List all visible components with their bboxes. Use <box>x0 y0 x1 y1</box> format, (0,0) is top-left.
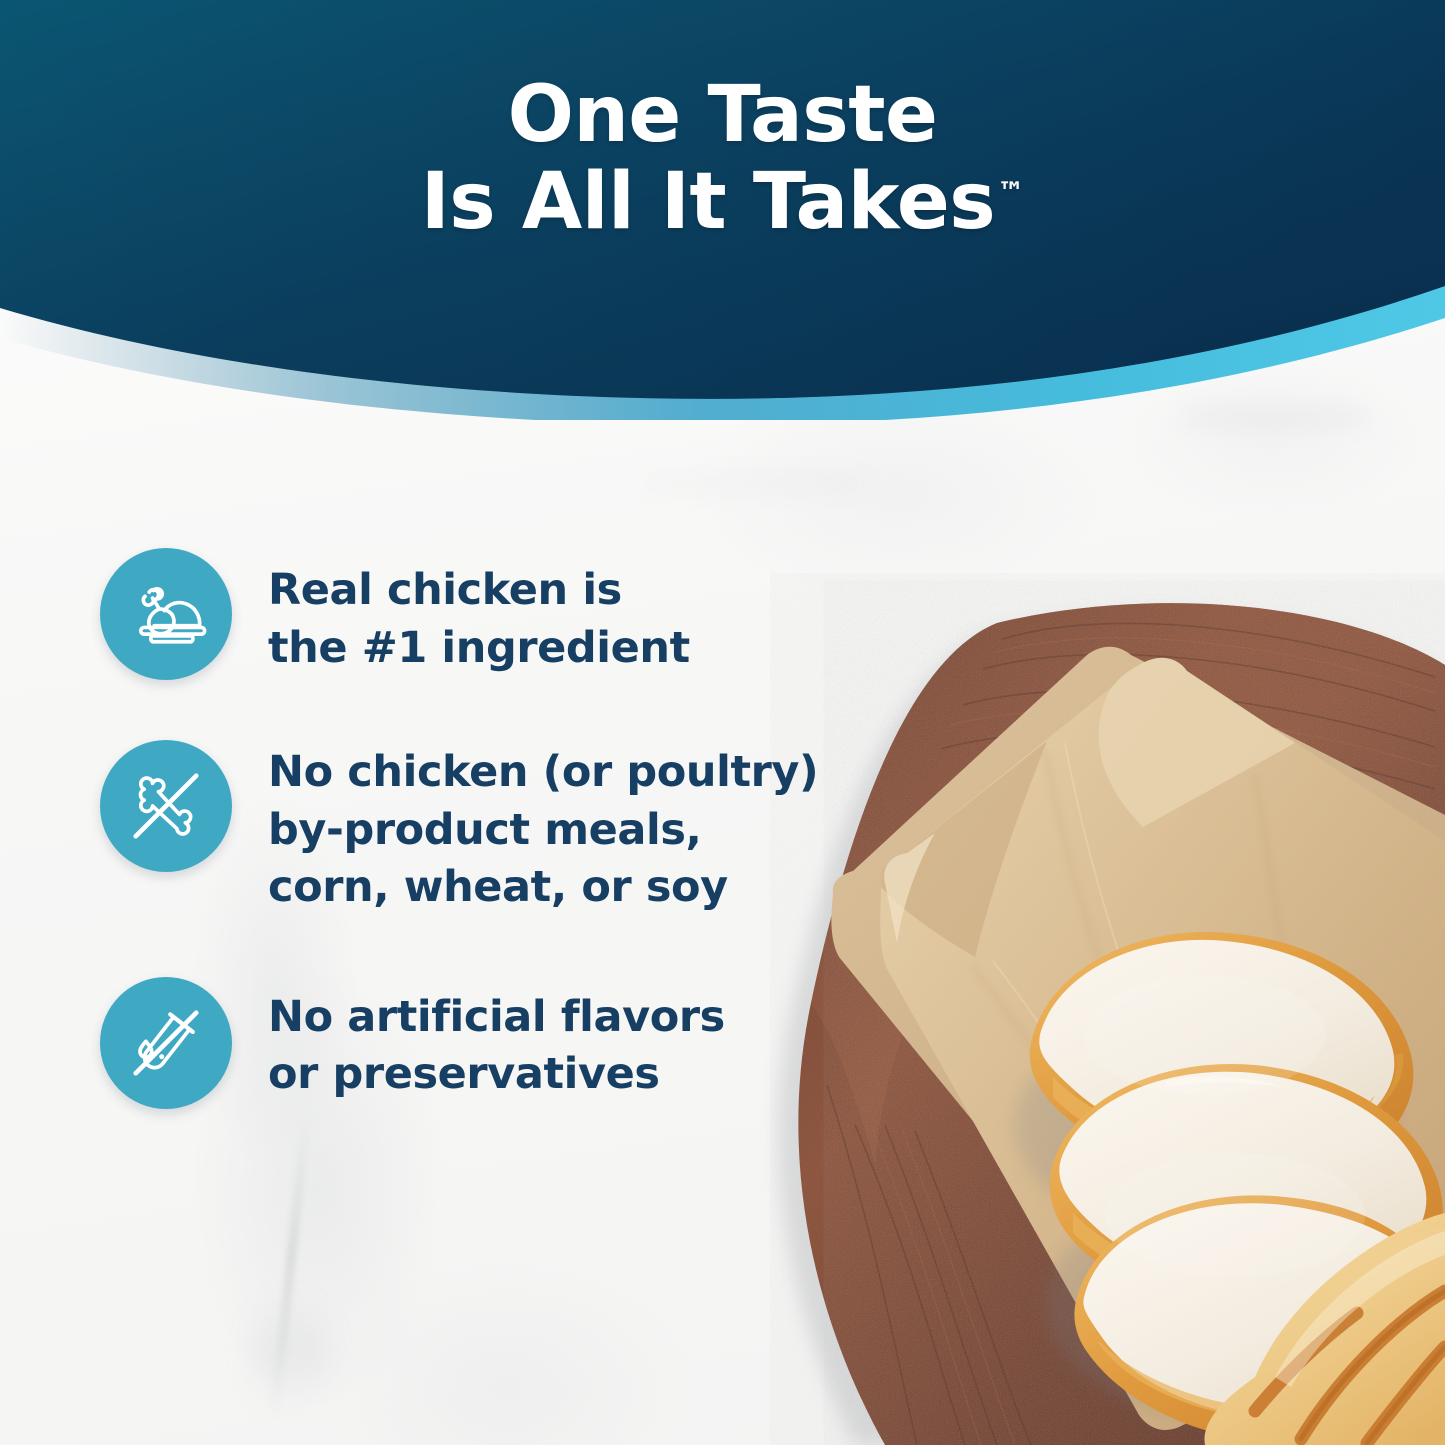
marble-vein <box>640 470 870 496</box>
no-artificial-flavors-test-tube-icon <box>100 977 232 1109</box>
marble-vein <box>250 1290 330 1420</box>
benefit-line: corn, wheat, or soy <box>268 859 818 917</box>
benefit-text: Real chicken is the #1 ingredient <box>268 548 690 677</box>
header-banner: One Taste Is All It Takes™ <box>0 0 1445 420</box>
benefit-line: No artificial flavors <box>268 989 725 1047</box>
benefit-item-real-chicken: Real chicken is the #1 ingredient <box>100 548 860 680</box>
headline-line-2-wrap: Is All It Takes™ <box>421 159 1024 246</box>
benefit-text: No artificial flavors or preservatives <box>268 977 725 1104</box>
headline-line-1: One Taste <box>0 72 1445 159</box>
benefit-text: No chicken (or poultry) by-product meals… <box>268 740 818 917</box>
benefit-item-no-byproduct: No chicken (or poultry) by-product meals… <box>100 740 860 917</box>
trademark-symbol: ™ <box>997 177 1024 208</box>
benefits-list: Real chicken is the #1 ingredient No chi… <box>100 548 860 1109</box>
benefit-line: the #1 ingredient <box>268 620 690 678</box>
benefit-line: or preservatives <box>268 1046 725 1104</box>
benefit-line: by-product meals, <box>268 802 818 860</box>
product-feature-graphic: One Taste Is All It Takes™ <box>0 0 1445 1445</box>
headline-line-2: Is All It Takes <box>421 157 995 247</box>
roast-chicken-platter-icon <box>100 548 232 680</box>
benefit-line: Real chicken is <box>268 562 690 620</box>
no-bone-meal-icon <box>100 740 232 872</box>
page-title: One Taste Is All It Takes™ <box>0 72 1445 247</box>
benefit-item-no-artificial: No artificial flavors or preservatives <box>100 977 860 1109</box>
benefit-line: No chicken (or poultry) <box>268 744 818 802</box>
